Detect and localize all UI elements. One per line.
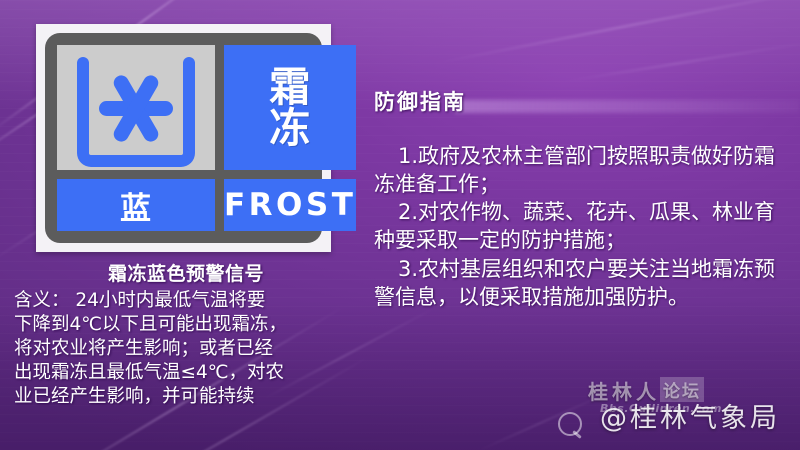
sign-hanzi-line2: 冻: [269, 108, 311, 148]
frost-warning-sign: 霜 冻 蓝 FROST: [36, 24, 331, 252]
sign-level-label: 蓝: [57, 179, 215, 231]
sign-english-label: FROST: [224, 179, 356, 231]
definition-line: 含义： 24小时内最低气温将要: [14, 289, 358, 313]
q-logo-icon: [558, 412, 582, 436]
definition-line: 业已经产生影响，并可能持续: [14, 385, 358, 409]
left-caption-block: 霜冻蓝色预警信号 含义： 24小时内最低气温将要 下降到4℃以下且可能出现霜冻，…: [14, 262, 358, 409]
warning-definition-body: 含义： 24小时内最低气温将要 下降到4℃以下且可能出现霜冻， 将对农业将产生影…: [14, 289, 358, 409]
sign-hanzi-cell: 霜 冻: [224, 45, 356, 170]
guide-item: 1.政府及农林主管部门按照职责做好防霜冻准备工作；: [374, 142, 794, 198]
defense-guide-heading: 防御指南: [374, 86, 794, 116]
sign-hanzi-line1: 霜: [269, 67, 311, 107]
defense-guide-list: 1.政府及农林主管部门按照职责做好防霜冻准备工作； 2.对农作物、蔬菜、花卉、瓜…: [374, 142, 794, 311]
sign-pictogram-cell: [57, 45, 215, 170]
snowflake-icon: [97, 69, 175, 147]
sign-grid: 霜 冻 蓝 FROST: [57, 45, 310, 231]
definition-line: 将对农业将产生影响；或者已经: [14, 337, 358, 361]
sign-body: 霜 冻 蓝 FROST: [45, 33, 322, 243]
weather-warning-slide: 霜 冻 蓝 FROST 霜冻蓝色预警信号 含义： 24小时内最低气温将要 下降到…: [0, 0, 800, 450]
warning-signal-title: 霜冻蓝色预警信号: [14, 262, 358, 287]
definition-line: 出现霜冻且最低气温≤4℃，对农: [14, 361, 358, 385]
u-bracket-cap-left: [77, 57, 89, 65]
bureau-watermark: @桂林气象局: [600, 396, 780, 435]
guide-item: 2.对农作物、蔬菜、花卉、瓜果、林业育种要采取一定的防护措施；: [374, 198, 794, 254]
defense-guide-block: 防御指南 1.政府及农林主管部门按照职责做好防霜冻准备工作； 2.对农作物、蔬菜…: [374, 86, 794, 311]
definition-line: 下降到4℃以下且可能出现霜冻，: [14, 313, 358, 337]
u-bracket-cap-right: [183, 57, 195, 65]
guide-item: 3.农村基层组织和农户要关注当地霜冻预警信息，以便采取措施加强防护。: [374, 255, 794, 311]
